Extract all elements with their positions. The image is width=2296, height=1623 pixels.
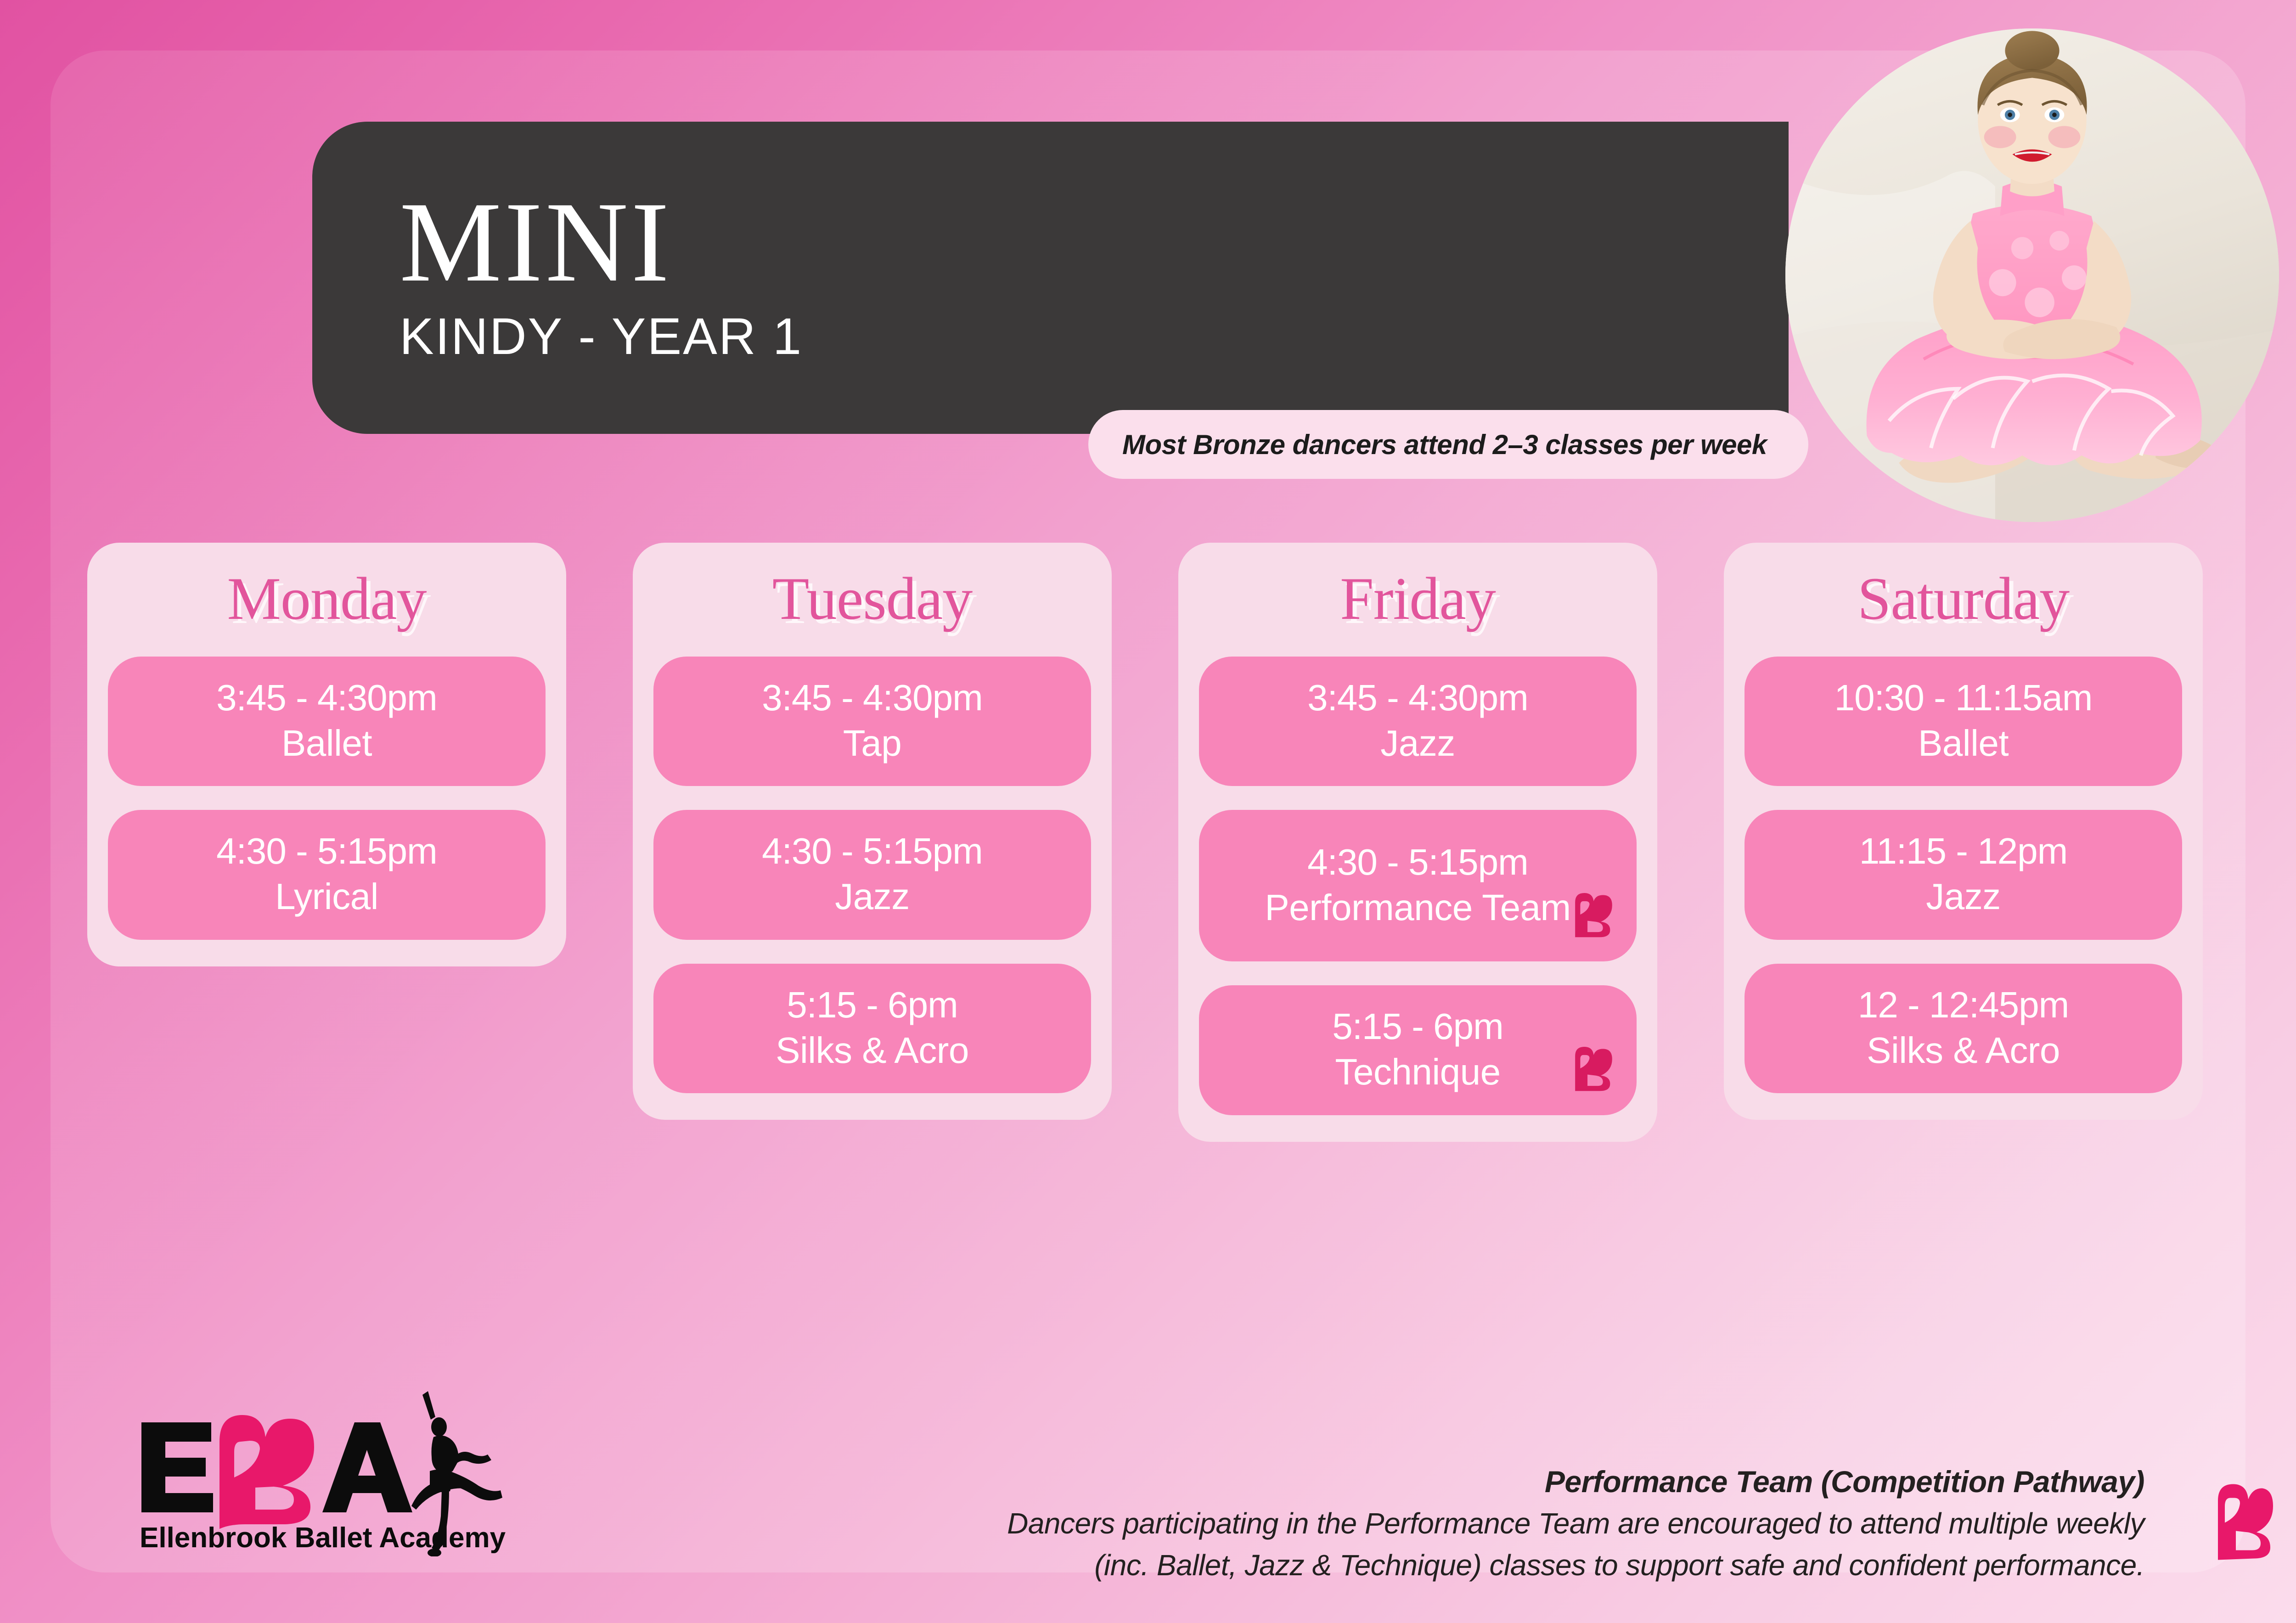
class-card[interactable]: 4:30 - 5:15pm Jazz: [653, 810, 1091, 939]
class-time: 3:45 - 4:30pm: [1215, 675, 1621, 720]
class-time: 4:30 - 5:15pm: [1215, 839, 1621, 885]
class-time: 4:30 - 5:15pm: [669, 828, 1075, 874]
day-title-saturday: Saturday: [1857, 565, 2069, 633]
day-title-monday: Monday: [227, 565, 427, 633]
day-title-friday: Friday: [1340, 565, 1496, 633]
class-time: 5:15 - 6pm: [1215, 1004, 1621, 1049]
day-title-tuesday: Tuesday: [772, 565, 973, 633]
class-list-saturday: 10:30 - 11:15am Ballet 11:15 - 12pm Jazz…: [1745, 657, 2182, 1093]
class-time: 10:30 - 11:15am: [1760, 675, 2167, 720]
class-name: Silks & Acro: [669, 1028, 1075, 1073]
day-column-saturday: Saturday 10:30 - 11:15am Ballet 11:15 - …: [1724, 543, 2203, 1120]
bronze-note-text: Most Bronze dancers attend 2–3 classes p…: [1122, 429, 1767, 461]
class-name: Performance Team: [1215, 885, 1621, 930]
day-column-tuesday: Tuesday 3:45 - 4:30pm Tap 4:30 - 5:15pm …: [633, 543, 1112, 1120]
class-card[interactable]: 5:15 - 6pm Technique: [1199, 985, 1637, 1115]
class-card[interactable]: 4:30 - 5:15pm Lyrical: [108, 810, 546, 939]
day-column-monday: Monday 3:45 - 4:30pm Ballet 4:30 - 5:15p…: [87, 543, 566, 966]
class-name: Ballet: [124, 720, 530, 766]
footer-line-2: (inc. Ballet, Jazz & Technique) classes …: [684, 1544, 2144, 1586]
class-name: Jazz: [1760, 874, 2167, 919]
schedule-columns: Monday 3:45 - 4:30pm Ballet 4:30 - 5:15p…: [87, 543, 2209, 1142]
class-name: Jazz: [669, 874, 1075, 919]
footer-note: Performance Team (Competition Pathway) D…: [684, 1461, 2144, 1586]
class-card[interactable]: 4:30 - 5:15pm Performance Team: [1199, 810, 1637, 961]
class-time: 3:45 - 4:30pm: [669, 675, 1075, 720]
class-name: Lyrical: [124, 874, 530, 919]
class-card[interactable]: 10:30 - 11:15am Ballet: [1745, 657, 2182, 786]
class-name: Tap: [669, 720, 1075, 766]
page-subtitle: KINDY - YEAR 1: [400, 304, 1789, 369]
class-card[interactable]: 11:15 - 12pm Jazz: [1745, 810, 2182, 939]
class-list-friday: 3:45 - 4:30pm Jazz 4:30 - 5:15pm Perform…: [1199, 657, 1637, 1115]
class-time: 3:45 - 4:30pm: [124, 675, 530, 720]
class-card[interactable]: 3:45 - 4:30pm Tap: [653, 657, 1091, 786]
day-column-friday: Friday 3:45 - 4:30pm Jazz 4:30 - 5:15pm …: [1178, 543, 1657, 1142]
footer-line-1: Dancers participating in the Performance…: [684, 1503, 2144, 1544]
title-bar: MINI KINDY - YEAR 1: [312, 122, 1789, 434]
footer-heart-icon: [2204, 1477, 2273, 1562]
class-card[interactable]: 12 - 12:45pm Silks & Acro: [1745, 964, 2182, 1093]
logo-name: Ellenbrook Ballet Academy: [140, 1522, 506, 1554]
performance-team-heart-icon: [1566, 1043, 1617, 1094]
dancer-photo: [1785, 28, 2279, 522]
class-time: 4:30 - 5:15pm: [124, 828, 530, 874]
page-title: MINI: [400, 187, 1789, 298]
class-card[interactable]: 3:45 - 4:30pm Ballet: [108, 657, 546, 786]
bronze-note-badge: Most Bronze dancers attend 2–3 classes p…: [1088, 410, 1808, 479]
class-time: 5:15 - 6pm: [669, 982, 1075, 1028]
class-name: Ballet: [1760, 720, 2167, 766]
class-card[interactable]: 5:15 - 6pm Silks & Acro: [653, 964, 1091, 1093]
class-time: 11:15 - 12pm: [1760, 828, 2167, 874]
performance-team-heart-icon: [1566, 889, 1617, 940]
class-time: 12 - 12:45pm: [1760, 982, 2167, 1028]
class-name: Jazz: [1215, 720, 1621, 766]
class-name: Silks & Acro: [1760, 1028, 2167, 1073]
footer-title: Performance Team (Competition Pathway): [684, 1461, 2144, 1503]
class-card[interactable]: 3:45 - 4:30pm Jazz: [1199, 657, 1637, 786]
class-name: Technique: [1215, 1049, 1621, 1095]
class-list-tuesday: 3:45 - 4:30pm Tap 4:30 - 5:15pm Jazz 5:1…: [653, 657, 1091, 1093]
class-list-monday: 3:45 - 4:30pm Ballet 4:30 - 5:15pm Lyric…: [108, 657, 546, 940]
eba-logo: Ellenbrook Ballet Academy: [125, 1373, 552, 1556]
